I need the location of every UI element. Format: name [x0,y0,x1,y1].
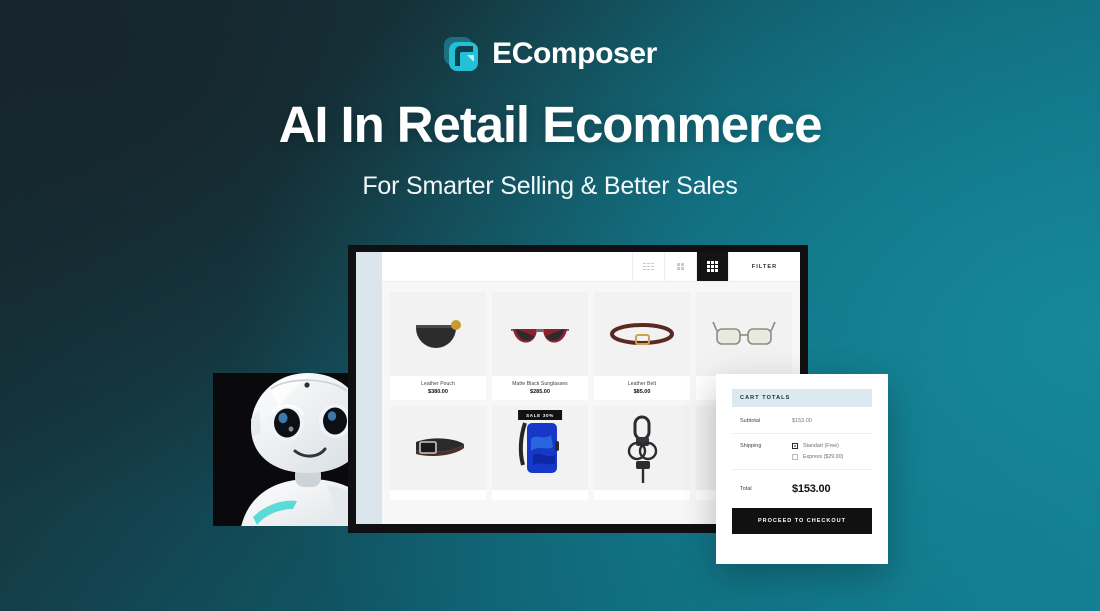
product-card[interactable]: Leather Pouch $380.00 [390,292,486,400]
cart-subtotal-row: Subtotal $153.00 [732,418,872,434]
leather-pouch-icon [390,292,486,376]
shipping-option-standard[interactable]: Standart (Free) [792,443,843,449]
product-card[interactable]: Leather Belt $85.00 [594,292,690,400]
product-card[interactable]: SALE 30% [492,406,588,500]
screen-side-strip [356,252,382,524]
leather-belt-icon [594,292,690,376]
product-price: $380.00 [390,389,486,395]
total-label: Total [740,486,792,492]
product-card[interactable] [390,406,486,500]
page-subtitle: For Smarter Selling & Better Sales [0,172,1100,201]
shipping-option-label: Standart (Free) [803,443,839,449]
radio-icon[interactable] [792,454,798,460]
hero-banner: EComposer AI In Retail Ecommerce For Sma… [0,0,1100,611]
product-name: Matte Black Sunglasses [492,381,588,387]
brand-name: EComposer [492,39,657,69]
black-belt-icon [390,406,486,490]
ecomposer-logo-icon [443,36,479,72]
eyeglasses-icon [696,292,792,376]
sale-badge: SALE 30% [518,410,562,420]
cart-total-row: Total $153.00 [732,470,872,508]
product-price: $285.00 [492,389,588,395]
shipping-option-express[interactable]: Express ($29.00) [792,454,843,460]
cart-totals-card: CART TOTALS Subtotal $153.00 Shipping St… [716,374,888,564]
cart-totals-heading: CART TOTALS [732,389,872,407]
grid-3-view-icon[interactable] [696,252,728,281]
cart-shipping-row: Shipping Standart (Free) Express ($29.00… [732,434,872,470]
shipping-label: Shipping [740,443,792,449]
view-toolbar: FILTER [382,252,800,282]
list-view-icon[interactable] [632,252,664,281]
product-card[interactable] [594,406,690,500]
shipping-option-label: Express ($29.00) [803,454,843,460]
product-card[interactable]: Matte Black Sunglasses $285.00 [492,292,588,400]
proceed-to-checkout-button[interactable]: PROCEED TO CHECKOUT [732,508,872,534]
subtotal-label: Subtotal [740,418,792,424]
keychain-icon [594,406,690,490]
page-title: AI In Retail Ecommerce [0,95,1100,154]
grid-2-view-icon[interactable] [664,252,696,281]
product-name: Leather Pouch [390,381,486,387]
filter-button[interactable]: FILTER [728,252,800,281]
product-name: Leather Belt [594,381,690,387]
brand-lockup: EComposer [0,36,1100,72]
total-value: $153.00 [792,483,830,495]
sunglasses-icon [492,292,588,376]
radio-selected-icon[interactable] [792,443,798,449]
product-price: $85.00 [594,389,690,395]
subtotal-value: $153.00 [792,418,812,424]
